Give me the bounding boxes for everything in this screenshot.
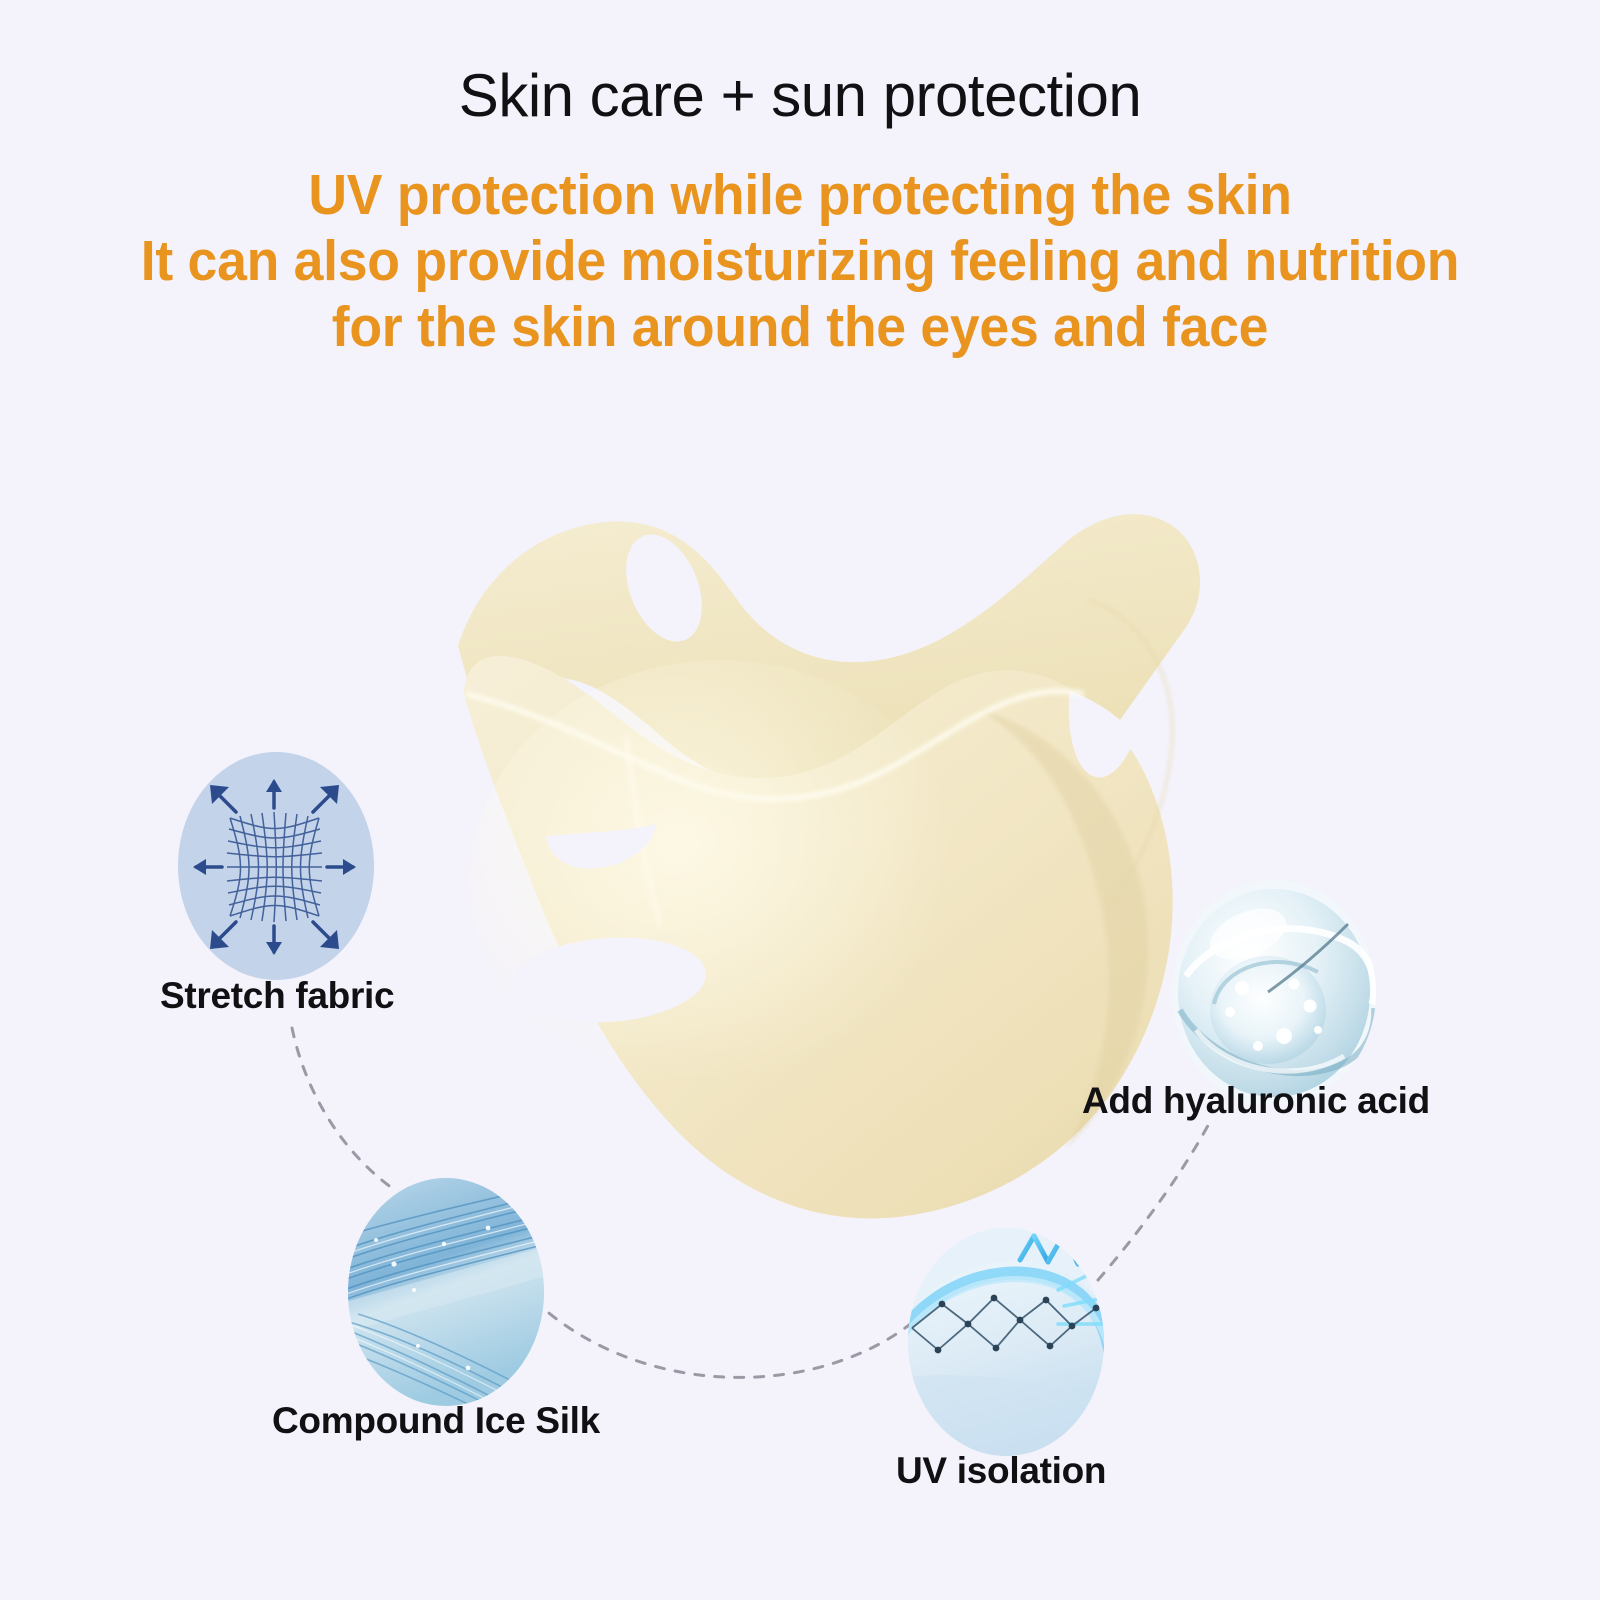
connector-stretch-to-silk <box>292 1028 392 1188</box>
connector-silk-to-uv <box>534 1300 918 1377</box>
feature-label-add-hyaluronic-acid: Add hyaluronic acid <box>1082 1080 1430 1122</box>
subtitle-line-1: UV protection while protecting the skin <box>48 162 1552 228</box>
subtitle-line-2: It can also provide moisturizing feeling… <box>48 228 1552 294</box>
headline-block: Skin care + sun protection UV protection… <box>0 0 1600 360</box>
product-image <box>420 480 1220 1240</box>
water-droplet-icon <box>1172 880 1376 1106</box>
stretch-mesh-icon <box>178 752 374 980</box>
page-title: Skin care + sun protection <box>0 0 1600 126</box>
silk-fiber-icon <box>348 1178 544 1406</box>
feature-label-uv-isolation: UV isolation <box>896 1450 1106 1492</box>
mask-front-body <box>464 656 1173 1219</box>
feature-label-compound-ice-silk: Compound Ice Silk <box>272 1400 600 1442</box>
product-feature-infographic: Skin care + sun protection UV protection… <box>0 0 1600 1600</box>
subtitle-line-3: for the skin around the eyes and face <box>48 294 1552 360</box>
feature-label-stretch-fabric: Stretch fabric <box>160 975 394 1017</box>
face-mask-illustration <box>420 480 1220 1240</box>
uv-shield-icon <box>908 1228 1104 1456</box>
headline-subtitle: UV protection while protecting the skin … <box>48 162 1552 360</box>
